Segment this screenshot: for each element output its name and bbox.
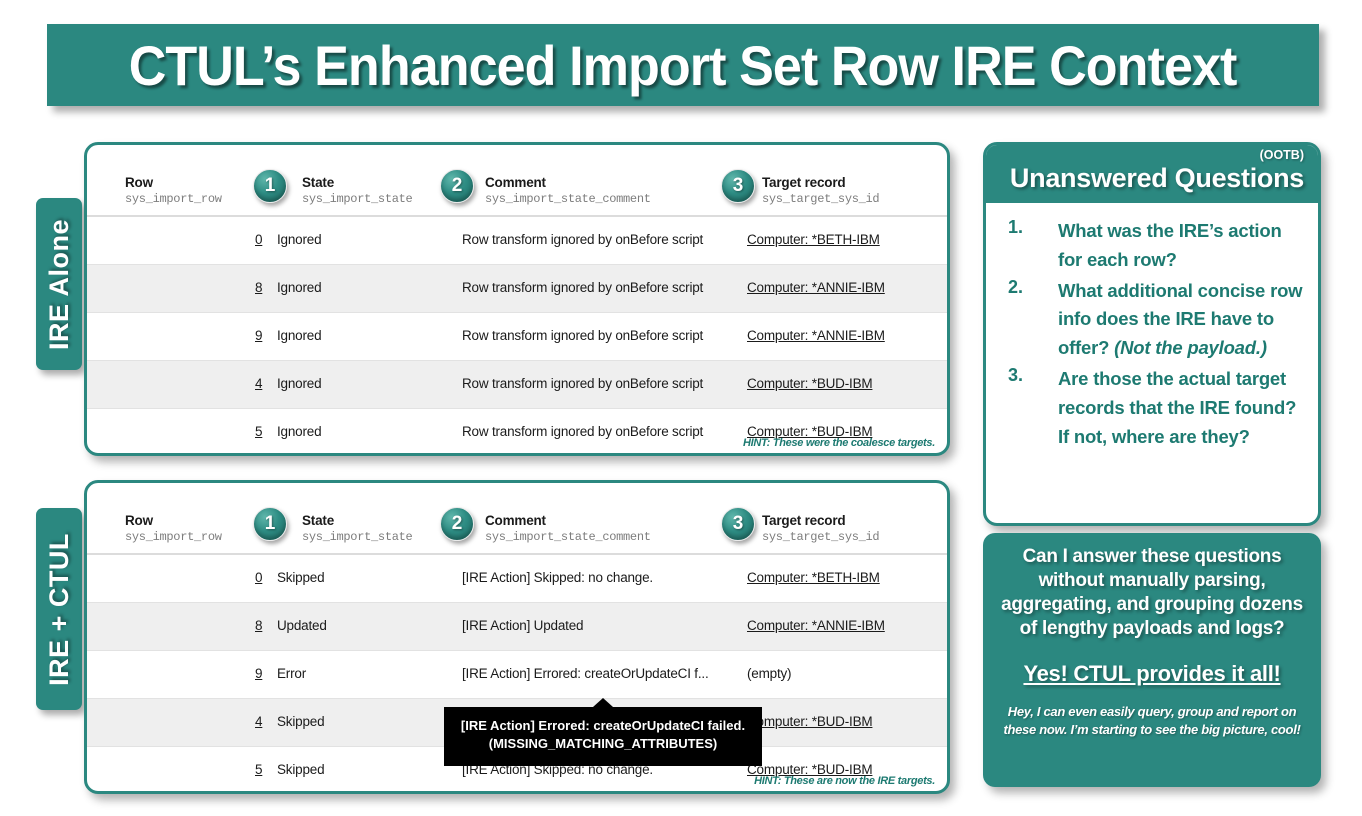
column-header-target-record: Target record sys_target_sys_id: [762, 175, 879, 206]
cell-state: Skipped: [277, 762, 324, 777]
ootb-label: (OOTB): [1000, 149, 1304, 163]
question-text: Are those the actual target records that…: [1058, 365, 1308, 452]
unanswered-questions-title: Unanswered Questions: [1000, 163, 1304, 194]
page-title: CTUL’s Enhanced Import Set Row IRE Conte…: [129, 33, 1237, 98]
column-header-row: Row sys_import_row: [125, 513, 222, 544]
cell-comment: [IRE Action] Updated: [462, 618, 583, 633]
column-header-comment: Comment sys_import_state_comment: [485, 175, 651, 206]
questions-list: 1. What was the IRE’s action for each ro…: [986, 203, 1318, 464]
cell-state: Skipped: [277, 714, 324, 729]
title-banner: CTUL’s Enhanced Import Set Row IRE Conte…: [47, 24, 1319, 106]
answer-panel-question: Can I answer these questions without man…: [997, 545, 1307, 641]
cell-comment: Row transform ignored by onBefore script: [462, 328, 703, 343]
cell-row[interactable]: 9: [255, 328, 262, 343]
unanswered-questions-panel: (OOTB) Unanswered Questions 1. What was …: [983, 142, 1321, 526]
cell-state: Ignored: [277, 232, 321, 247]
cell-target-record[interactable]: Computer: *BUD-IBM: [747, 714, 872, 729]
list-item: 2. What additional concise row info does…: [996, 277, 1308, 364]
table-row[interactable]: 8 Updated [IRE Action] Updated Computer:…: [87, 603, 947, 651]
list-item: 3. Are those the actual target records t…: [996, 365, 1308, 452]
table-row[interactable]: 9 Error [IRE Action] Errored: createOrUp…: [87, 651, 947, 699]
question-text-italic: (Not the payload.): [1114, 337, 1267, 358]
infographic-page: CTUL’s Enhanced Import Set Row IRE Conte…: [0, 0, 1362, 816]
column-header-target-record: Target record sys_target_sys_id: [762, 513, 879, 544]
ire-alone-table-card: Row sys_import_row 1 State sys_import_st…: [84, 142, 950, 456]
cell-target-record: (empty): [747, 666, 791, 681]
table-row[interactable]: 0 Ignored Row transform ignored by onBef…: [87, 217, 947, 265]
cell-row[interactable]: 5: [255, 424, 262, 439]
step-badge-2: 2: [440, 507, 474, 541]
step-badge-1: 1: [253, 507, 287, 541]
unanswered-questions-header: (OOTB) Unanswered Questions: [986, 145, 1318, 203]
column-header-row: Row sys_import_row: [125, 175, 222, 206]
side-tab-ire-ctul: IRE + CTUL: [36, 508, 82, 710]
column-header-state: State sys_import_state: [302, 175, 412, 206]
answer-panel-note: Hey, I can even easily query, group and …: [997, 703, 1307, 739]
cell-comment: Row transform ignored by onBefore script: [462, 424, 703, 439]
cell-state: Error: [277, 666, 306, 681]
cell-target-record[interactable]: Computer: *BETH-IBM: [747, 232, 880, 247]
cell-row[interactable]: 8: [255, 280, 262, 295]
cell-target-record[interactable]: Computer: *ANNIE-IBM: [747, 618, 885, 633]
cell-state: Updated: [277, 618, 327, 633]
cell-state: Ignored: [277, 328, 321, 343]
cell-comment: Row transform ignored by onBefore script: [462, 232, 703, 247]
cell-target-record[interactable]: Computer: *BETH-IBM: [747, 570, 880, 585]
cell-comment[interactable]: [IRE Action] Errored: createOrUpdateCI f…: [462, 666, 709, 681]
cell-row[interactable]: 5: [255, 762, 262, 777]
side-tab-ire-alone: IRE Alone: [36, 198, 82, 370]
list-item: 1. What was the IRE’s action for each ro…: [996, 217, 1308, 275]
cell-comment: [IRE Action] Skipped: no change.: [462, 570, 653, 585]
table1-hint: HINT: These were the coalesce targets.: [743, 437, 935, 449]
answer-panel: Can I answer these questions without man…: [983, 533, 1321, 787]
table-row[interactable]: 0 Skipped [IRE Action] Skipped: no chang…: [87, 555, 947, 603]
cell-state: Skipped: [277, 570, 324, 585]
cell-row[interactable]: 0: [255, 232, 262, 247]
step-badge-3: 3: [721, 507, 755, 541]
step-badge-2: 2: [440, 169, 474, 203]
table2-hint: HINT: These are now the IRE targets.: [754, 775, 935, 787]
cell-state: Ignored: [277, 376, 321, 391]
table-row[interactable]: 8 Ignored Row transform ignored by onBef…: [87, 265, 947, 313]
cell-row[interactable]: 8: [255, 618, 262, 633]
table-row[interactable]: 9 Ignored Row transform ignored by onBef…: [87, 313, 947, 361]
question-text: What was the IRE’s action for each row?: [1058, 217, 1308, 275]
tooltip-arrow-icon: [593, 698, 613, 707]
tooltip-line-2: (MISSING_MATCHING_ATTRIBUTES): [452, 735, 754, 753]
error-tooltip: [IRE Action] Errored: createOrUpdateCI f…: [444, 707, 762, 766]
cell-state: Ignored: [277, 424, 321, 439]
side-tab-ire-alone-label: IRE Alone: [44, 218, 75, 349]
cell-comment: Row transform ignored by onBefore script: [462, 280, 703, 295]
question-number: 2.: [996, 277, 1058, 364]
question-number: 1.: [996, 217, 1058, 275]
column-header-comment: Comment sys_import_state_comment: [485, 513, 651, 544]
question-number: 3.: [996, 365, 1058, 452]
side-tab-ire-ctul-label: IRE + CTUL: [44, 533, 75, 686]
cell-target-record[interactable]: Computer: *ANNIE-IBM: [747, 328, 885, 343]
cell-state: Ignored: [277, 280, 321, 295]
column-header-state: State sys_import_state: [302, 513, 412, 544]
cell-row[interactable]: 4: [255, 714, 262, 729]
cell-target-record[interactable]: Computer: *BUD-IBM: [747, 376, 872, 391]
step-badge-3: 3: [721, 169, 755, 203]
question-text: What additional concise row info does th…: [1058, 277, 1308, 364]
cell-comment: Row transform ignored by onBefore script: [462, 376, 703, 391]
tooltip-line-1: [IRE Action] Errored: createOrUpdateCI f…: [452, 717, 754, 735]
cell-row[interactable]: 9: [255, 666, 262, 681]
table-header-row: Row sys_import_row 1 State sys_import_st…: [87, 483, 947, 555]
step-badge-1: 1: [253, 169, 287, 203]
cell-row[interactable]: 0: [255, 570, 262, 585]
cell-target-record[interactable]: Computer: *ANNIE-IBM: [747, 280, 885, 295]
question-text-main: What was the IRE’s action for each row?: [1058, 220, 1282, 270]
cell-row[interactable]: 4: [255, 376, 262, 391]
table-header-row: Row sys_import_row 1 State sys_import_st…: [87, 145, 947, 217]
question-text-main: Are those the actual target records that…: [1058, 368, 1296, 447]
table-row[interactable]: 4 Ignored Row transform ignored by onBef…: [87, 361, 947, 409]
answer-panel-headline: Yes! CTUL provides it all!: [997, 661, 1307, 687]
